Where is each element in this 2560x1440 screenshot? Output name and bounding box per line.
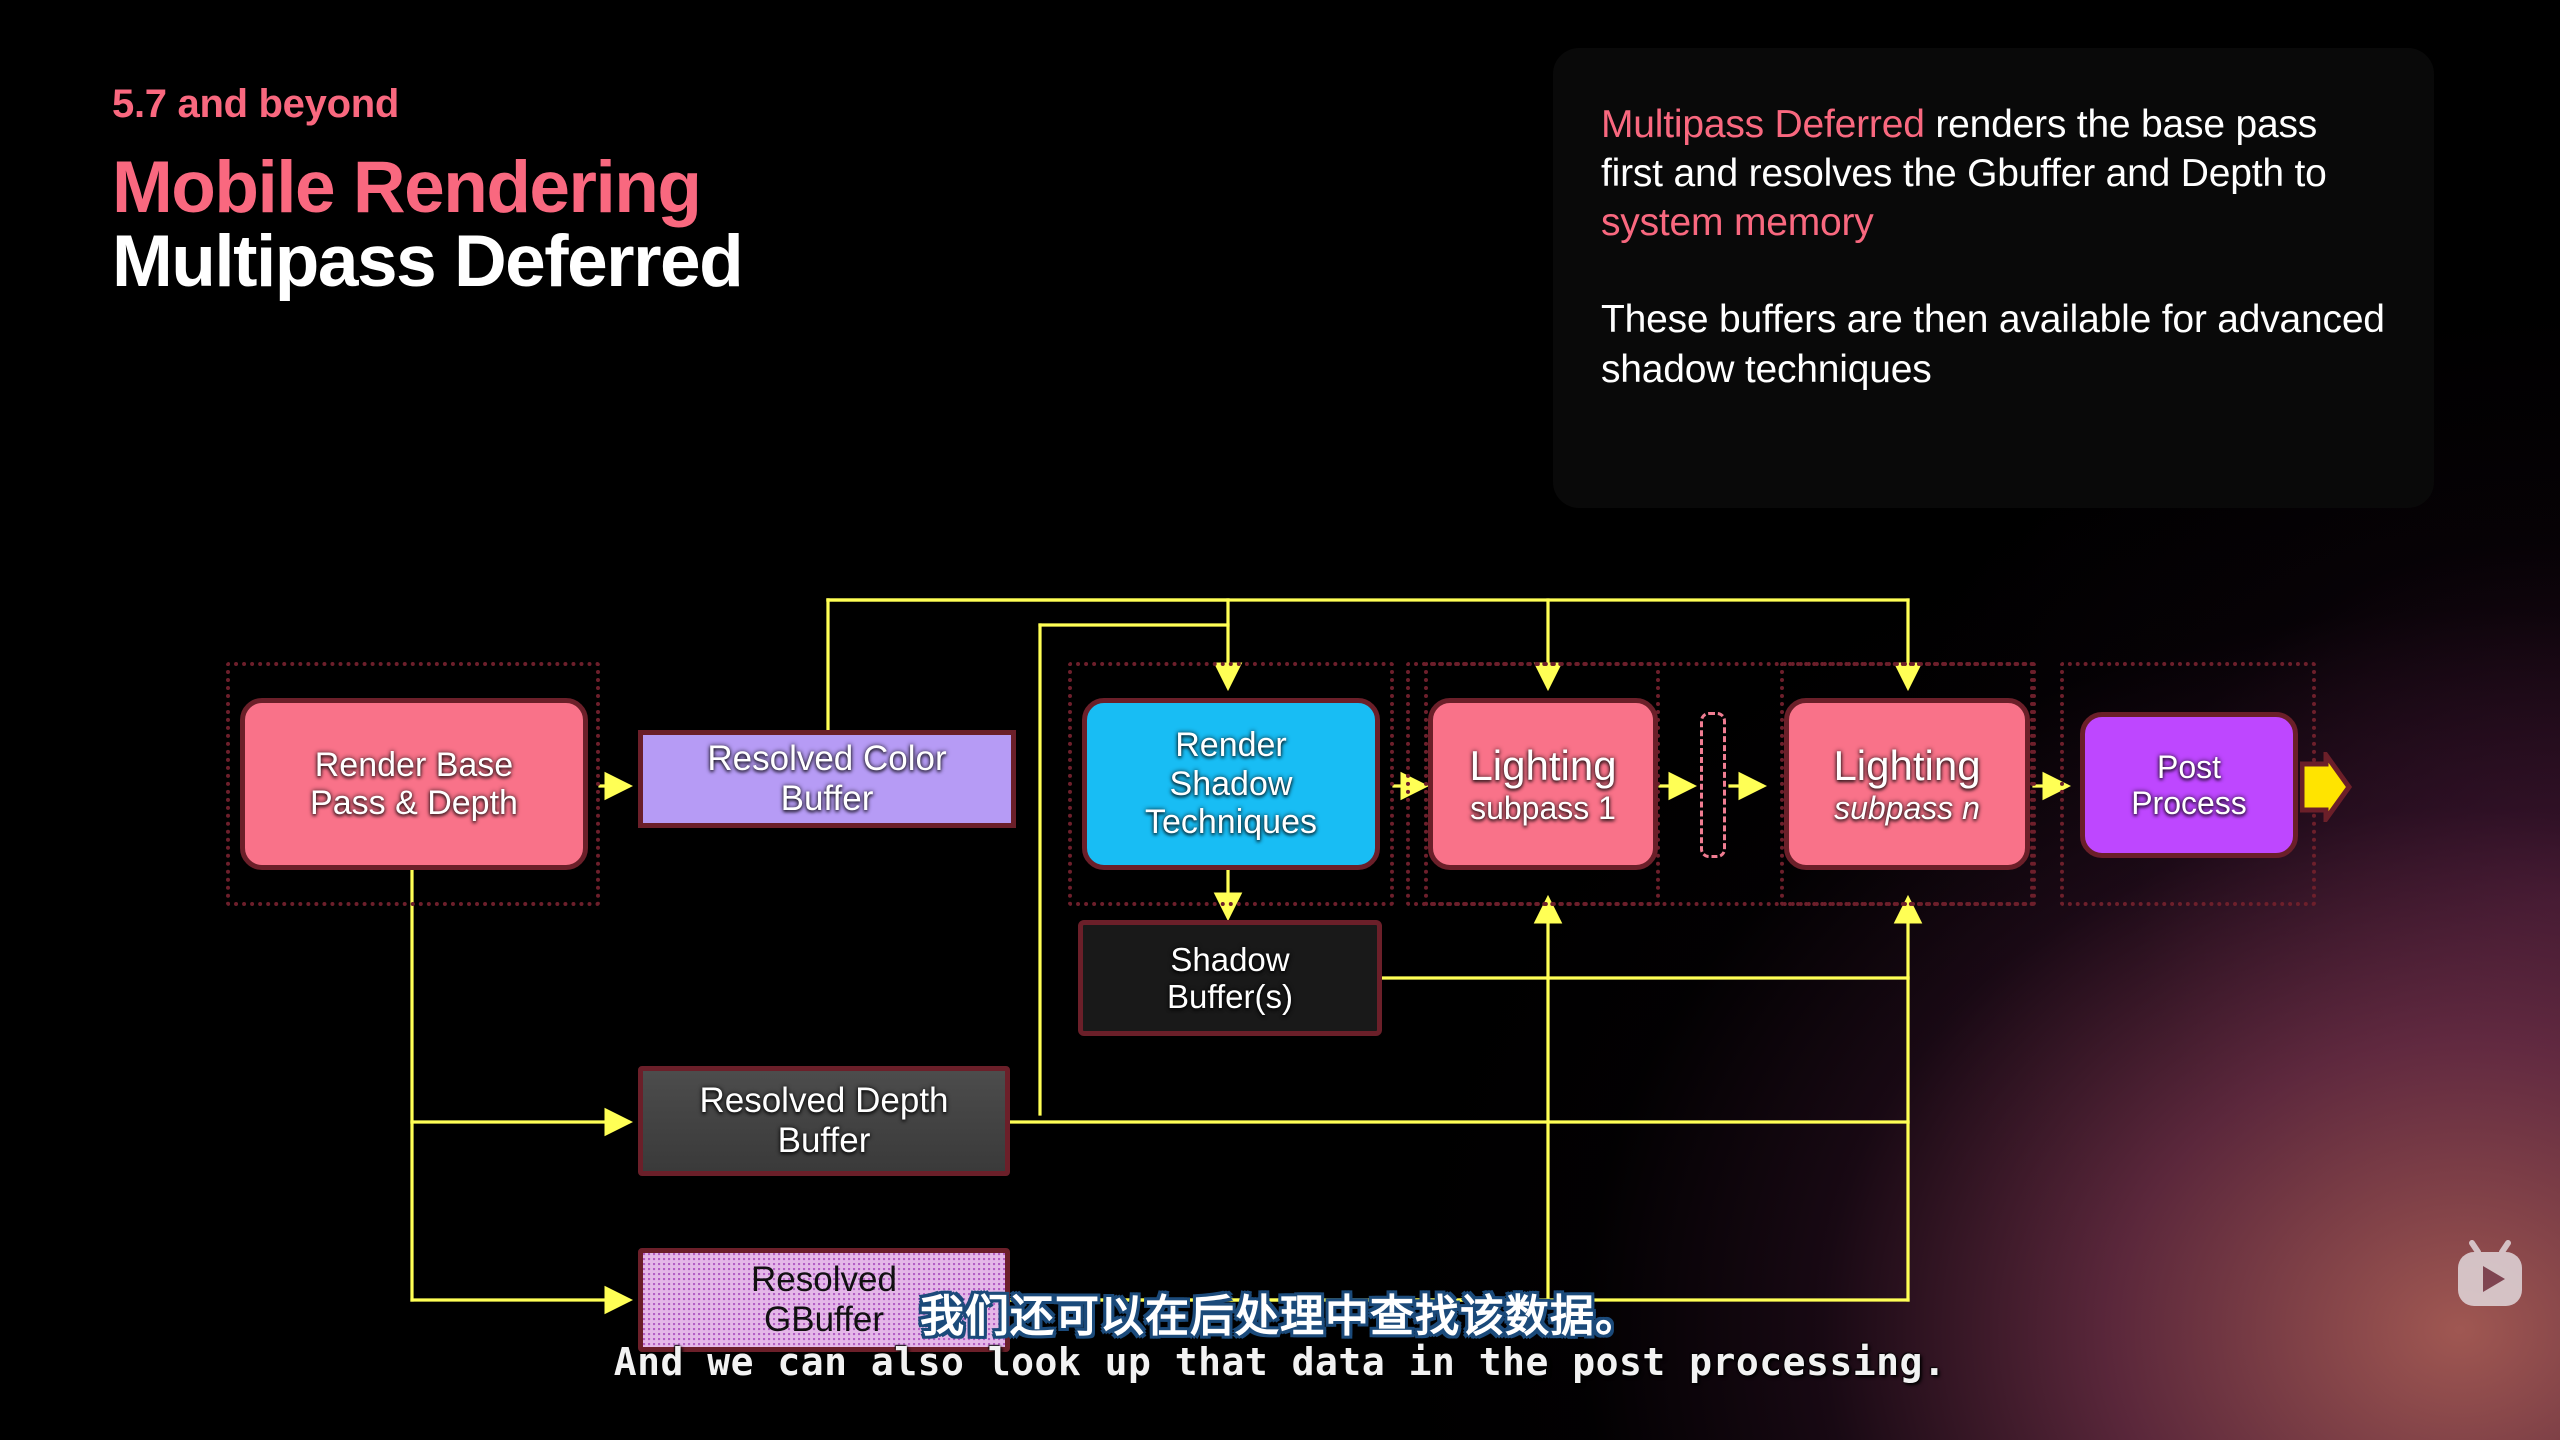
- node-shadow-buffers[interactable]: Shadow Buffer(s): [1078, 920, 1382, 1036]
- node-lighting-subpass-1-title: Lighting: [1469, 742, 1616, 789]
- node-render-shadow-techniques[interactable]: Render Shadow Techniques: [1082, 698, 1380, 870]
- node-lighting-subpass-n[interactable]: Lighting subpass n: [1784, 698, 2030, 870]
- slide-canvas: 5.7 and beyond Mobile Rendering Multipas…: [0, 0, 2560, 1440]
- flow-diagram: Render Base Pass & Depth Resolved Color …: [0, 0, 2560, 1440]
- node-resolved-color-buffer[interactable]: Resolved Color Buffer: [638, 730, 1016, 828]
- node-resolved-depth-buffer-label: Resolved Depth Buffer: [691, 1081, 956, 1160]
- node-post-process[interactable]: Post Process: [2080, 712, 2298, 858]
- tv-play-icon: [2452, 1240, 2528, 1312]
- pipeline-exit-arrow-icon: [2300, 752, 2352, 822]
- node-lighting-subpass-n-title: Lighting: [1833, 742, 1980, 789]
- node-render-base-pass[interactable]: Render Base Pass & Depth: [240, 698, 588, 870]
- node-lighting-subpass-1-sub: subpass 1: [1469, 790, 1616, 826]
- node-lighting-subpass-1[interactable]: Lighting subpass 1: [1428, 698, 1658, 870]
- node-post-process-label: Post Process: [2123, 749, 2255, 821]
- node-resolved-depth-buffer[interactable]: Resolved Depth Buffer: [638, 1066, 1010, 1176]
- node-render-base-pass-label: Render Base Pass & Depth: [302, 746, 526, 823]
- node-render-shadow-techniques-label: Render Shadow Techniques: [1137, 726, 1325, 841]
- subtitle-chinese: 我们还可以在后处理中查找该数据。: [0, 1280, 2560, 1344]
- node-shadow-buffers-label: Shadow Buffer(s): [1159, 941, 1301, 1016]
- subtitle-english: And we can also look up that data in the…: [0, 1340, 2560, 1384]
- node-resolved-color-buffer-label: Resolved Color Buffer: [699, 739, 954, 818]
- node-lighting-subpass-n-sub: subpass n: [1833, 790, 1980, 826]
- subpass-ellipsis-placeholder: [1700, 712, 1726, 858]
